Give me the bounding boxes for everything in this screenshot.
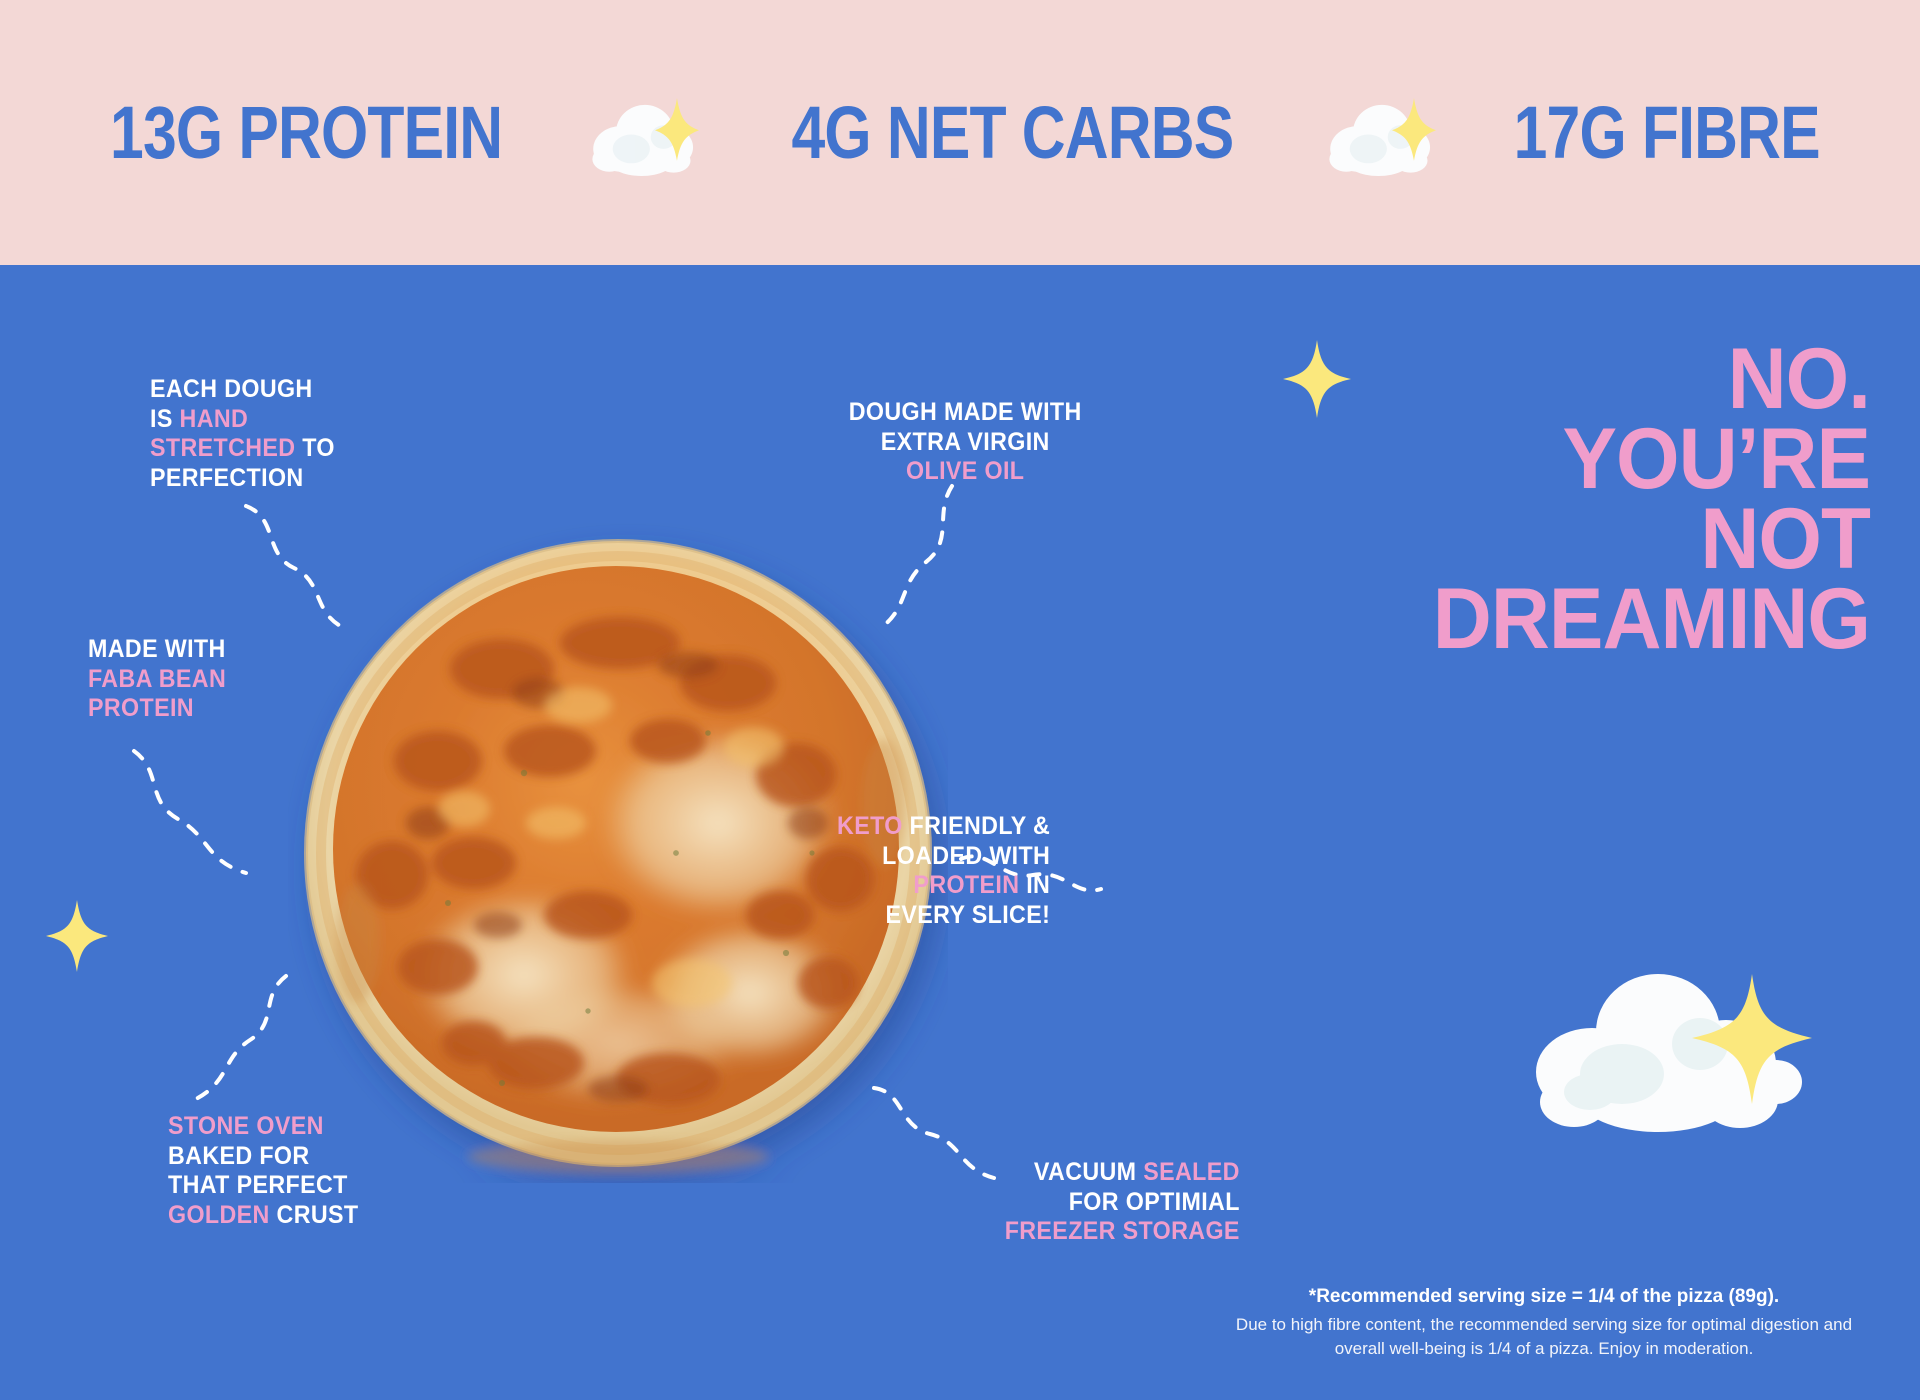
callout-hand-stretched: EACH DOUGHIS HANDSTRETCHED TOPERFECTION [150,375,349,493]
callout-text: VACUUM [1034,1158,1143,1186]
callout-vacuum-line-2: FOR OPTIMIAL [1005,1188,1240,1218]
callout-stone-oven-line-1: STONE OVEN [168,1112,358,1142]
callout-highlight-text: PROTEIN [913,871,1019,899]
callout-text: EVERY SLICE! [885,901,1050,929]
headline: NO. YOU’RE NOT DREAMING [1170,340,1870,660]
nutrition-banner: 13G PROTEIN 4G NET CARBS [0,0,1920,265]
footnote-sub: Due to high fibre content, the recommend… [1224,1313,1864,1360]
callout-olive-oil-line-3: OLIVE OIL [849,457,1082,487]
callout-stone-oven-line-2: BAKED FOR [168,1142,358,1172]
callout-text: EACH DOUGH [150,375,313,403]
callout-text: CRUST [270,1201,359,1229]
callout-vacuum-line-1: VACUUM SEALED [1005,1158,1240,1188]
headline-line-2: YOU’RE [1205,420,1870,500]
callout-highlight-text: FREEZER STORAGE [1005,1217,1240,1245]
callout-keto-line-4: EVERY SLICE! [837,901,1050,931]
callout-text: IS [150,405,180,433]
cloud-sparkle-icon [1530,960,1830,1140]
banner-stat-protein: 13G PROTEIN [110,90,502,175]
callout-stone-oven-line-4: GOLDEN CRUST [168,1201,358,1231]
callout-highlight-text: KETO [837,812,903,840]
callout-text: FRIENDLY & [902,812,1050,840]
callout-hand-stretched-line-2: IS HAND [150,405,335,435]
serving-size-footnote: *Recommended serving size = 1/4 of the p… [1224,1284,1864,1360]
callout-keto-line-1: KETO FRIENDLY & [837,812,1050,842]
callout-olive-oil-line-2: EXTRA VIRGIN [849,428,1082,458]
callout-highlight-text: HAND [180,405,249,433]
callout-highlight-text: OLIVE OIL [906,457,1024,485]
headline-line-3: NOT [1205,500,1870,580]
callout-olive-oil: DOUGH MADE WITHEXTRA VIRGINOLIVE OIL [840,398,1090,487]
banner-stat-net-carbs: 4G NET CARBS [791,90,1233,175]
callout-highlight-text: STRETCHED [150,434,295,462]
callout-keto-line-2: LOADED WITH [837,842,1050,872]
callout-hand-stretched-line-1: EACH DOUGH [150,375,335,405]
callout-vacuum: VACUUM SEALEDFOR OPTIMIALFREEZER STORAGE [987,1158,1240,1247]
callout-highlight-text: PROTEIN [88,694,194,722]
callout-highlight-text: FABA BEAN [88,665,226,693]
callout-text: DOUGH MADE WITH [849,398,1082,426]
callout-highlight-text: STONE OVEN [168,1112,324,1140]
cloud-sparkle-icon [589,88,699,178]
callout-text: BAKED FOR [168,1142,310,1170]
callout-text: IN [1019,871,1050,899]
callout-highlight-text: GOLDEN [168,1201,270,1229]
callout-keto: KETO FRIENDLY &LOADED WITHPROTEIN INEVER… [821,812,1050,930]
connector-stone-oven [168,970,308,1110]
sparkle-icon [46,900,108,972]
footnote-main: *Recommended serving size = 1/4 of the p… [1224,1284,1864,1310]
callout-keto-line-3: PROTEIN IN [837,871,1050,901]
cloud-sparkle-icon [1326,88,1436,178]
callout-text: FOR OPTIMIAL [1069,1188,1240,1216]
callout-text: PERFECTION [150,464,304,492]
callout-text: TO [295,434,334,462]
callout-faba-bean-line-2: FABA BEAN [88,665,226,695]
callout-olive-oil-line-1: DOUGH MADE WITH [849,398,1082,428]
poster-canvas: 13G PROTEIN 4G NET CARBS [0,0,1920,1400]
sparkle-icon [1283,340,1351,418]
callout-text: EXTRA VIRGIN [881,428,1050,456]
banner-stat-fibre: 17G FIBRE [1514,90,1820,175]
callout-highlight-text: SEALED [1143,1158,1240,1186]
callout-stone-oven-line-3: THAT PERFECT [168,1171,358,1201]
callout-faba-bean-line-3: PROTEIN [88,694,226,724]
callout-faba-bean: MADE WITHFABA BEANPROTEIN [88,635,237,724]
callout-faba-bean-line-1: MADE WITH [88,635,226,665]
callout-hand-stretched-line-4: PERFECTION [150,464,335,494]
callout-text: THAT PERFECT [168,1171,348,1199]
callout-text: LOADED WITH [882,842,1050,870]
headline-line-4: DREAMING [1205,580,1870,660]
callout-stone-oven: STONE OVENBAKED FORTHAT PERFECTGOLDEN CR… [168,1112,373,1230]
callout-hand-stretched-line-3: STRETCHED TO [150,434,335,464]
callout-text: MADE WITH [88,635,226,663]
callout-vacuum-line-3: FREEZER STORAGE [1005,1217,1240,1247]
connector-faba-bean [128,745,288,890]
